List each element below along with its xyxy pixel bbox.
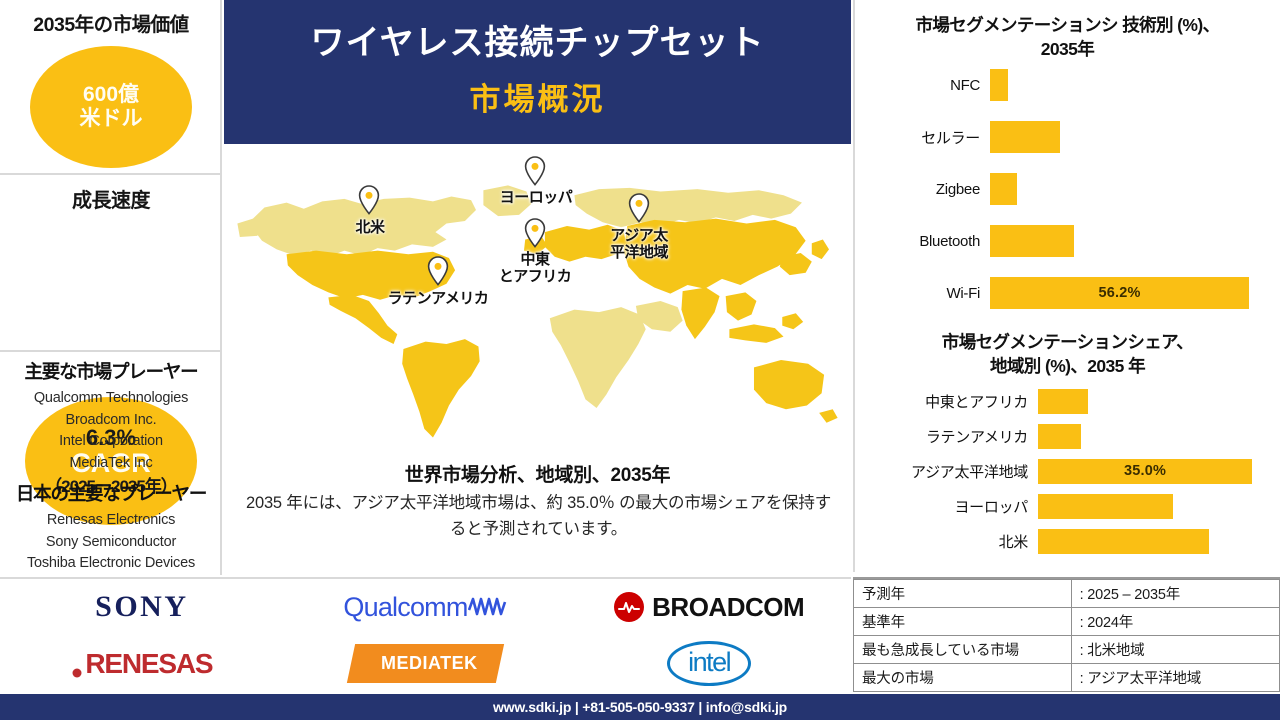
list-item: Qualcomm Technologies bbox=[0, 388, 222, 410]
chart-title: 市場セグメンテーションシ 技術別 (%)、 2035年 bbox=[855, 0, 1280, 61]
mediatek-logo: MEDIATEK bbox=[347, 644, 504, 683]
bar-label: 中東とアフリカ bbox=[855, 391, 1038, 412]
map-label-europe: ヨーロッパ bbox=[470, 190, 602, 207]
table-cell-value: : 2024年 bbox=[1071, 608, 1279, 636]
bar-label: Bluetooth bbox=[855, 233, 990, 250]
market-value-heading: 2035年の市場価値 bbox=[0, 0, 222, 37]
charts-panel: 市場セグメンテーションシ 技術別 (%)、 2035年 NFC セルラー bbox=[853, 0, 1280, 572]
players-block: 主要な市場プレーヤー Qualcomm Technologies Broadco… bbox=[0, 352, 222, 575]
chart-bar-row: セルラー bbox=[855, 121, 1280, 153]
table-cell-key: 予測年 bbox=[854, 580, 1072, 608]
bar-label: アジア太平洋地域 bbox=[855, 461, 1038, 482]
bar-fill bbox=[1038, 494, 1173, 519]
bar-track bbox=[990, 173, 1280, 205]
key-players-list: Qualcomm Technologies Broadcom Inc. Inte… bbox=[0, 388, 222, 474]
chart-bar-row: 北米 bbox=[855, 529, 1280, 554]
renesas-logo-text: RENESAS bbox=[85, 648, 212, 680]
logo-intel: intel bbox=[567, 636, 851, 693]
chart-bar-row: ヨーロッパ bbox=[855, 494, 1280, 519]
table-row: 予測年 : 2025 – 2035年 bbox=[854, 580, 1280, 608]
broadcom-pulse-icon bbox=[618, 600, 640, 614]
bar-track bbox=[990, 121, 1280, 153]
map-caption-title: 世界市場分析、地域別、2035年 bbox=[224, 460, 851, 487]
bar-label: 北米 bbox=[855, 531, 1038, 552]
bar-label: ラテンアメリカ bbox=[855, 426, 1038, 447]
intel-logo-text: intel bbox=[667, 641, 751, 686]
qualcomm-logo: Qualcomm bbox=[343, 592, 507, 623]
sony-logo-text: SONY bbox=[95, 590, 188, 624]
growth-rate-block: 成長速度 6.3% CAGR （2025ー2035年） bbox=[0, 175, 222, 352]
logo-mediatek: MEDIATEK bbox=[284, 636, 568, 693]
table-cell-value: : アジア太平洋地域 bbox=[1071, 664, 1279, 692]
qualcomm-wave-icon bbox=[468, 596, 508, 618]
bar-label: セルラー bbox=[855, 127, 990, 148]
map-label-north-america: 北米 bbox=[320, 220, 420, 237]
chart-bar-row: 中東とアフリカ bbox=[855, 389, 1280, 414]
chart-title-line2: 2035年 bbox=[869, 38, 1266, 62]
logo-sony: SONY bbox=[0, 579, 284, 636]
bar-track bbox=[1038, 494, 1280, 519]
market-value-line1: 600億 bbox=[83, 83, 139, 107]
list-item: Toshiba Electronic Devices bbox=[0, 553, 222, 575]
bar-value: 56.2% bbox=[1098, 285, 1140, 301]
bar-value: 35.0% bbox=[1124, 463, 1166, 479]
logo-qualcomm: Qualcomm bbox=[284, 579, 568, 636]
bar-fill: 35.0% bbox=[1038, 459, 1252, 484]
page-subtitle: 市場概況 bbox=[470, 74, 606, 119]
bar-track bbox=[1038, 529, 1280, 554]
mediatek-logo-text: MEDIATEK bbox=[381, 653, 478, 674]
renesas-logo: RENESAS bbox=[71, 648, 212, 680]
logo-broadcom: BROADCOM bbox=[567, 579, 851, 636]
chart-bar-row: NFC bbox=[855, 69, 1280, 101]
chart-bar-row: ラテンアメリカ bbox=[855, 424, 1280, 449]
table-cell-key: 最大の市場 bbox=[854, 664, 1072, 692]
chart-bar-row: Zigbee bbox=[855, 173, 1280, 205]
table-cell-value: : 2025 – 2035年 bbox=[1071, 580, 1279, 608]
broadcom-logo: BROADCOM bbox=[614, 592, 804, 623]
regional-segmentation-chart: 市場セグメンテーションシェア、 地域別 (%)、2035 年 中東とアフリカ ラ… bbox=[855, 325, 1280, 553]
table-cell-key: 基準年 bbox=[854, 608, 1072, 636]
growth-rate-heading: 成長速度 bbox=[0, 175, 222, 213]
header-banner: ワイヤレス接続チップセット 市場概況 bbox=[224, 0, 851, 144]
table-row: 基準年 : 2024年 bbox=[854, 608, 1280, 636]
market-value-line2: 米ドル bbox=[80, 107, 143, 131]
chart-bar-row: Wi-Fi 56.2% bbox=[855, 277, 1280, 309]
map-caption-body: 2035 年には、アジア太平洋地域市場は、約 35.0％ の最大の市場シェアを保… bbox=[246, 491, 831, 542]
chart-title-line1: 市場セグメンテーションシェア、 bbox=[873, 331, 1262, 355]
bar-track bbox=[1038, 424, 1280, 449]
logo-renesas: RENESAS bbox=[0, 636, 284, 693]
chart-bar-row: アジア太平洋地域 35.0% bbox=[855, 459, 1280, 484]
spec-table: 予測年 : 2025 – 2035年 基準年 : 2024年 最も急成長している… bbox=[853, 577, 1280, 692]
infographic-root: 2035年の市場価値 600億 米ドル 成長速度 6.3% CAGR （2025… bbox=[0, 0, 1280, 720]
page-title: ワイヤレス接続チップセット bbox=[311, 25, 765, 62]
list-item: Broadcom Inc. bbox=[0, 410, 222, 432]
technology-segmentation-chart: 市場セグメンテーションシ 技術別 (%)、 2035年 NFC セルラー bbox=[855, 0, 1280, 309]
bar-label: Zigbee bbox=[855, 181, 990, 198]
map-label-asia-pacific: アジア太 平洋地域 bbox=[584, 228, 694, 262]
bar-label: NFC bbox=[855, 77, 990, 94]
japan-players-list: Renesas Electronics Sony Semiconductor T… bbox=[0, 510, 222, 575]
qualcomm-logo-text: Qualcomm bbox=[343, 592, 467, 623]
bar-track bbox=[1038, 389, 1280, 414]
chart-title-line1: 市場セグメンテーションシ 技術別 (%)、 bbox=[869, 14, 1266, 38]
bar-track bbox=[990, 69, 1280, 101]
bar-fill bbox=[990, 69, 1008, 101]
list-item: Sony Semiconductor bbox=[0, 532, 222, 554]
map-label-latin-america: ラテンアメリカ bbox=[362, 291, 514, 308]
bar-track: 35.0% bbox=[1038, 459, 1280, 484]
world-map-graphic bbox=[230, 164, 845, 454]
chart-title-line2: 地域別 (%)、2035 年 bbox=[873, 355, 1262, 379]
bar-label: ヨーロッパ bbox=[855, 496, 1038, 517]
bar-rows: 中東とアフリカ ラテンアメリカ アジ bbox=[855, 389, 1280, 554]
footer-contact-text: www.sdki.jp | +81-505-050-9337 | info@sd… bbox=[493, 699, 787, 715]
partner-logos-strip: SONY Qualcomm BROADCOM bbox=[0, 577, 851, 692]
bar-fill: 56.2% bbox=[990, 277, 1249, 309]
renesas-dot-icon bbox=[71, 649, 85, 679]
spec-table-grid: 予測年 : 2025 – 2035年 基準年 : 2024年 最も急成長している… bbox=[853, 579, 1280, 692]
table-row: 最大の市場 : アジア太平洋地域 bbox=[854, 664, 1280, 692]
japan-players-heading: 日本の主要なプレーヤー bbox=[0, 474, 222, 506]
bar-track: 56.2% bbox=[990, 277, 1280, 309]
bar-fill bbox=[1038, 389, 1088, 414]
bar-track bbox=[990, 225, 1280, 257]
broadcom-logo-text: BROADCOM bbox=[652, 592, 804, 623]
list-item: Intel Corporation bbox=[0, 431, 222, 453]
table-row: 最も急成長している市場 : 北米地域 bbox=[854, 636, 1280, 664]
bar-rows: NFC セルラー Zigbee bbox=[855, 69, 1280, 309]
footer-bar: www.sdki.jp | +81-505-050-9337 | info@sd… bbox=[0, 694, 1280, 720]
bar-fill bbox=[1038, 529, 1209, 554]
world-map-panel: 北米 ヨーロッパ アジア太 平洋地域 中東 とアフリカ ラテンアメリカ 世界市場… bbox=[224, 146, 851, 575]
market-value-block: 2035年の市場価値 600億 米ドル bbox=[0, 0, 222, 175]
chart-title: 市場セグメンテーションシェア、 地域別 (%)、2035 年 bbox=[855, 325, 1280, 378]
bar-fill bbox=[990, 225, 1074, 257]
broadcom-mark-icon bbox=[614, 592, 644, 622]
table-cell-value: : 北米地域 bbox=[1071, 636, 1279, 664]
chart-bar-row: Bluetooth bbox=[855, 225, 1280, 257]
bar-label: Wi-Fi bbox=[855, 285, 990, 302]
list-item: MediaTek Inc bbox=[0, 453, 222, 475]
table-cell-key: 最も急成長している市場 bbox=[854, 636, 1072, 664]
map-label-middle-east-africa: 中東 とアフリカ bbox=[472, 252, 598, 286]
bar-fill bbox=[1038, 424, 1081, 449]
list-item: Renesas Electronics bbox=[0, 510, 222, 532]
left-sidebar: 2035年の市場価値 600億 米ドル 成長速度 6.3% CAGR （2025… bbox=[0, 0, 222, 575]
bar-fill bbox=[990, 121, 1060, 153]
bar-fill bbox=[990, 173, 1017, 205]
key-players-heading: 主要な市場プレーヤー bbox=[0, 352, 222, 384]
market-value-ellipse: 600億 米ドル bbox=[30, 46, 192, 168]
